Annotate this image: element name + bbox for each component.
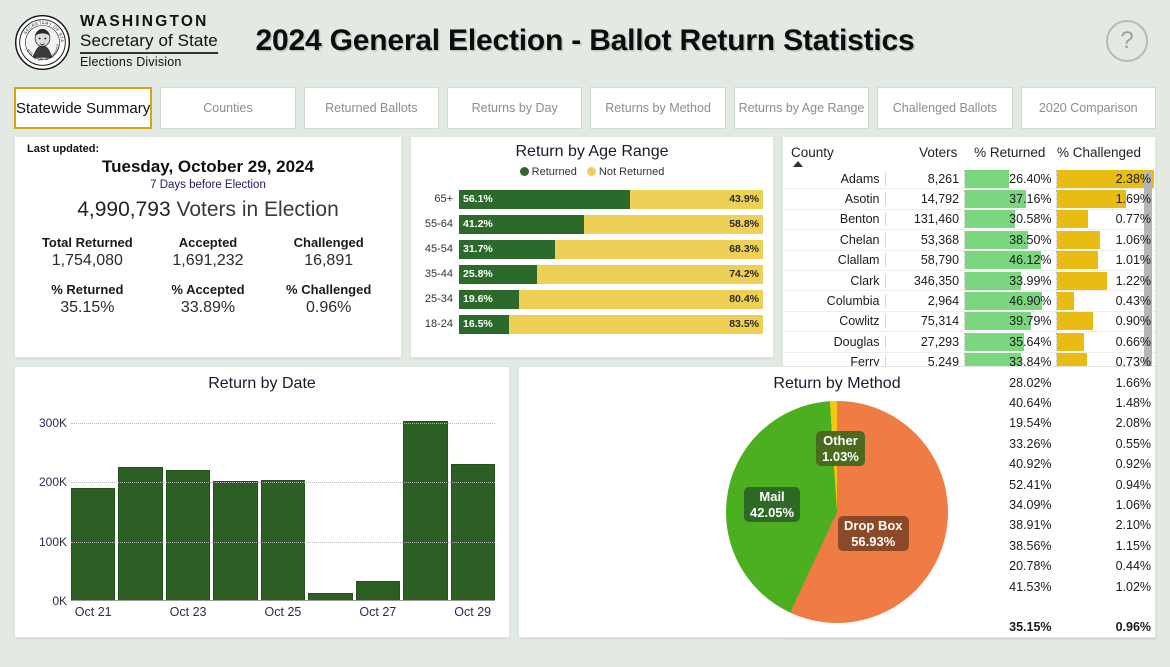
- age-segment-returned: 16.5%: [459, 315, 509, 334]
- return-by-method-card: Return by Method Other 1.03% Mail 42.05%…: [518, 366, 1156, 638]
- date-chart-gridline: [71, 542, 495, 543]
- age-row-bar: 31.7%68.3%: [459, 240, 763, 259]
- data-bar-challenged: [1057, 333, 1084, 351]
- date-chart-bar[interactable]: [118, 467, 162, 601]
- cell-pct-returned-text: 20.78%: [1009, 559, 1051, 573]
- data-bar-challenged: [1057, 251, 1098, 269]
- cell-pct-returned-text: 38.56%: [1009, 539, 1051, 553]
- age-chart-legend: Returned Not Returned: [421, 166, 763, 178]
- voters-count: 4,990,793: [77, 198, 170, 221]
- cell-pct-returned-text: 46.12%: [1009, 253, 1051, 267]
- age-chart-title: Return by Age Range: [421, 143, 763, 161]
- column-header-county[interactable]: County: [791, 145, 883, 160]
- age-row-label: 45-54: [421, 243, 459, 255]
- stat-value-challenged: 16,891: [268, 252, 389, 280]
- cell-pct-challenged: 0.90%: [1056, 312, 1155, 330]
- days-before-election: 7 Days before Election: [27, 179, 389, 191]
- cell-pct-returned-text: 33.84%: [1009, 355, 1051, 369]
- county-table-header: County Voters % Returned % Challenged: [783, 141, 1155, 169]
- column-header-pct-returned[interactable]: % Returned: [957, 145, 1045, 160]
- cell-pct-returned: 38.50%: [964, 231, 1056, 249]
- date-chart-x-tick: [403, 605, 447, 619]
- cell-pct-returned-text: 52.41%: [1009, 478, 1051, 492]
- cell-pct-challenged-text: 0.73%: [1116, 355, 1151, 369]
- table-row[interactable]: Chelan53,36838.50%1.06%: [783, 230, 1155, 250]
- cell-pct-challenged-text: 1.66%: [1116, 376, 1151, 390]
- cell-pct-returned-text: 41.53%: [1009, 580, 1051, 594]
- cell-pct-returned-text: 46.90%: [1009, 294, 1051, 308]
- date-chart-x-tick: [308, 605, 352, 619]
- voters-suffix: Voters in Election: [177, 198, 339, 221]
- stat-label-pct-accepted: % Accepted: [148, 282, 269, 297]
- age-row-bar: 25.8%74.2%: [459, 265, 763, 284]
- age-segment-returned: 41.2%: [459, 215, 584, 234]
- cell-pct-challenged-text: 2.38%: [1116, 172, 1151, 186]
- date-chart-bar[interactable]: [451, 464, 495, 601]
- stat-label-challenged: Challenged: [268, 235, 389, 250]
- cell-pct-challenged-text: 1.06%: [1116, 498, 1151, 512]
- cell-pct-challenged-text: 0.90%: [1116, 314, 1151, 328]
- cell-pct-returned: 26.40%: [964, 170, 1056, 188]
- age-bar-rows: 65+56.1%43.9%55-6441.2%58.8%45-5431.7%68…: [421, 188, 763, 335]
- pie-label-drop-box: Drop Box 56.93%: [838, 516, 909, 551]
- cell-pct-challenged: 2.38%: [1056, 170, 1155, 188]
- age-segment-returned: 19.6%: [459, 290, 519, 309]
- cell-pct-challenged-text: 0.94%: [1116, 478, 1151, 492]
- cell-pct-challenged-text: 1.06%: [1116, 233, 1151, 247]
- column-header-county-label: County: [791, 145, 834, 160]
- last-updated-date: Tuesday, October 29, 2024: [27, 157, 389, 177]
- statewide-summary-card: Last updated: Tuesday, October 29, 2024 …: [14, 136, 402, 358]
- voters-in-election: 4,990,793 Voters in Election: [27, 198, 389, 222]
- cell-pct-returned-text: 38.50%: [1009, 233, 1051, 247]
- cell-pct-returned-text: 35.64%: [1009, 335, 1051, 349]
- date-chart-gridline: [71, 482, 495, 483]
- date-chart-x-tick: Oct 21: [71, 605, 115, 619]
- cell-pct-returned: 33.99%: [964, 272, 1056, 290]
- data-bar-challenged: [1057, 272, 1107, 290]
- date-chart-bar[interactable]: [403, 421, 447, 601]
- help-icon[interactable]: ?: [1106, 20, 1148, 62]
- age-row-label: 65+: [421, 193, 459, 205]
- age-segment-returned: 31.7%: [459, 240, 555, 259]
- age-row-bar: 19.6%80.4%: [459, 290, 763, 309]
- page-header: SECRETARY OF STATE STATE OF WASHINGTON W…: [0, 0, 1170, 84]
- date-chart-bars: [71, 411, 495, 601]
- cell-pct-challenged-text: 0.43%: [1116, 294, 1151, 308]
- cell-pct-challenged: 0.77%: [1056, 210, 1155, 228]
- cell-county: Asotin: [791, 192, 886, 206]
- date-chart-x-tick: Oct 23: [166, 605, 210, 619]
- cell-pct-challenged-text: 0.92%: [1116, 457, 1151, 471]
- age-segment-returned: 25.8%: [459, 265, 537, 284]
- tab-challenged-ballots[interactable]: Challenged Ballots: [877, 87, 1012, 129]
- age-row-55-64: 55-6441.2%58.8%: [421, 213, 763, 235]
- cell-pct-returned: 46.12%: [964, 251, 1056, 269]
- cell-pct-returned: 37.16%: [964, 190, 1056, 208]
- cell-voters: 14,792: [886, 192, 964, 206]
- data-bar-returned: [965, 210, 1015, 228]
- page-title: 2024 General Election - Ballot Return St…: [0, 24, 1170, 58]
- tab-returns-by-day[interactable]: Returns by Day: [447, 87, 582, 129]
- age-segment-not-returned: 83.5%: [509, 315, 763, 334]
- cell-pct-challenged-text: 1.22%: [1116, 274, 1151, 288]
- data-bar-challenged: [1057, 231, 1100, 249]
- cell-county: Cowlitz: [791, 314, 886, 328]
- tab-returns-by-age-range[interactable]: Returns by Age Range: [734, 87, 869, 129]
- age-row-label: 18-24: [421, 318, 459, 330]
- date-chart-x-tick: Oct 25: [261, 605, 305, 619]
- age-row-bar: 16.5%83.5%: [459, 315, 763, 334]
- stat-label-accepted: Accepted: [148, 235, 269, 250]
- age-segment-not-returned: 80.4%: [519, 290, 763, 309]
- pie-label-other: Other 1.03%: [816, 431, 865, 466]
- cell-pct-challenged: 1.01%: [1056, 251, 1155, 269]
- dashboard-body: Last updated: Tuesday, October 29, 2024 …: [0, 136, 1170, 667]
- age-row-bar: 41.2%58.8%: [459, 215, 763, 234]
- legend-label-returned: Returned: [532, 166, 577, 178]
- date-chart-x-tick: [213, 605, 257, 619]
- age-row-65plus: 65+56.1%43.9%: [421, 188, 763, 210]
- age-segment-not-returned: 43.9%: [630, 190, 763, 209]
- method-pie-wrap: Other 1.03% Mail 42.05% Drop Box 56.93%: [726, 401, 948, 623]
- data-bar-returned: [965, 170, 1008, 188]
- cell-pct-challenged: 0.66%: [1056, 333, 1155, 351]
- tab-bar: Statewide Summary Counties Returned Ball…: [0, 84, 1170, 132]
- pie-label-mail: Mail 42.05%: [744, 487, 800, 522]
- date-chart-gridline: [71, 423, 495, 424]
- cell-voters: 53,368: [886, 233, 964, 247]
- age-row-label: 55-64: [421, 218, 459, 230]
- sort-ascending-icon: [793, 161, 803, 167]
- data-bar-challenged: [1057, 312, 1094, 330]
- summary-stats-grid: Total Returned Accepted Challenged 1,754…: [27, 235, 389, 327]
- cell-pct-returned: 35.64%: [964, 333, 1056, 351]
- cell-voters: 8,261: [886, 172, 964, 186]
- age-row-label: 35-44: [421, 268, 459, 280]
- date-chart-x-tick: Oct 29: [451, 605, 495, 619]
- cell-county: Clallam: [791, 253, 886, 267]
- cell-pct-returned-text: 40.92%: [1009, 457, 1051, 471]
- stat-value-pct-returned: 35.15%: [27, 299, 148, 327]
- cell-pct-returned-text: 33.99%: [1009, 274, 1051, 288]
- cell-pct-challenged-text: 1.48%: [1116, 396, 1151, 410]
- age-segment-returned: 56.1%: [459, 190, 630, 209]
- date-chart-y-tick: 100K: [25, 535, 67, 549]
- dashboard-bottom-row: Return by Date 0K100K200K300K Oct 21Oct …: [14, 366, 1156, 638]
- date-chart-plot: 0K100K200K300K: [25, 411, 499, 601]
- stat-value-total-returned: 1,754,080: [27, 252, 148, 280]
- cell-pct-returned-text: 39.79%: [1009, 314, 1051, 328]
- cell-pct-challenged-text: 0.77%: [1116, 212, 1151, 226]
- age-row-25-34: 25-3419.6%80.4%: [421, 288, 763, 310]
- cell-pct-challenged-text: 1.15%: [1116, 539, 1151, 553]
- table-row[interactable]: Cowlitz75,31439.79%0.90%: [783, 312, 1155, 332]
- table-row[interactable]: Clark346,35033.99%1.22%: [783, 271, 1155, 291]
- tab-2020-comparison[interactable]: 2020 Comparison: [1021, 87, 1156, 129]
- cell-voters: 27,293: [886, 335, 964, 349]
- column-header-voters[interactable]: Voters: [883, 145, 958, 160]
- cell-county: Chelan: [791, 233, 886, 247]
- table-row[interactable]: Benton131,46030.58%0.77%: [783, 210, 1155, 230]
- cell-pct-returned-text: 28.02%: [1009, 376, 1051, 390]
- cell-pct-returned-text: 30.58%: [1009, 212, 1051, 226]
- cell-pct-returned-text: 26.40%: [1009, 172, 1051, 186]
- cell-pct-challenged-text: 2.10%: [1116, 518, 1151, 532]
- stat-label-total-returned: Total Returned: [27, 235, 148, 250]
- age-row-45-54: 45-5431.7%68.3%: [421, 238, 763, 260]
- date-chart-y-tick: 200K: [25, 475, 67, 489]
- cell-county: Clark: [791, 274, 886, 288]
- legend-dot-returned: [520, 167, 529, 176]
- stat-value-pct-challenged: 0.96%: [268, 299, 389, 327]
- return-by-age-range-card: Return by Age Range Returned Not Returne…: [410, 136, 774, 358]
- stat-value-accepted: 1,691,232: [148, 252, 269, 280]
- table-row[interactable]: Columbia2,96446.90%0.43%: [783, 291, 1155, 311]
- age-row-bar: 56.1%43.9%: [459, 190, 763, 209]
- date-chart-bar[interactable]: [356, 581, 400, 601]
- return-by-date-card: Return by Date 0K100K200K300K Oct 21Oct …: [14, 366, 510, 638]
- cell-pct-returned: 46.90%: [964, 292, 1056, 310]
- cell-pct-returned-text: 37.16%: [1009, 192, 1051, 206]
- table-row[interactable]: Adams8,26126.40%2.38%: [783, 169, 1155, 189]
- cell-pct-returned: 30.58%: [964, 210, 1056, 228]
- table-row[interactable]: Douglas27,29335.64%0.66%: [783, 332, 1155, 352]
- date-chart-y-tick: 300K: [25, 416, 67, 430]
- legend-item-returned: Returned: [520, 166, 577, 178]
- cell-pct-challenged: 0.43%: [1056, 292, 1155, 310]
- cell-pct-challenged-text: 0.44%: [1116, 559, 1151, 573]
- date-chart-x-labels: Oct 21Oct 23Oct 25Oct 27Oct 29: [25, 605, 499, 619]
- age-segment-not-returned: 58.8%: [584, 215, 763, 234]
- tab-returned-ballots[interactable]: Returned Ballots: [304, 87, 439, 129]
- cell-pct-challenged-text: 1.69%: [1116, 192, 1151, 206]
- age-row-18-24: 18-2416.5%83.5%: [421, 313, 763, 335]
- date-chart-bar[interactable]: [166, 470, 210, 601]
- age-segment-not-returned: 68.3%: [555, 240, 763, 259]
- age-row-35-44: 35-4425.8%74.2%: [421, 263, 763, 285]
- cell-pct-challenged: 1.69%: [1056, 190, 1155, 208]
- cell-pct-returned-text: 19.54%: [1009, 416, 1051, 430]
- data-bar-challenged: [1057, 292, 1075, 310]
- date-chart-x-tick: Oct 27: [356, 605, 400, 619]
- tab-counties[interactable]: Counties: [160, 87, 295, 129]
- date-chart-title: Return by Date: [25, 375, 499, 393]
- age-row-label: 25-34: [421, 293, 459, 305]
- table-row[interactable]: Asotin14,79237.16%1.69%: [783, 189, 1155, 209]
- cell-county: Adams: [791, 172, 886, 186]
- data-bar-challenged: [1057, 210, 1089, 228]
- table-row[interactable]: Clallam58,79046.12%1.01%: [783, 251, 1155, 271]
- stat-label-pct-returned: % Returned: [27, 282, 148, 297]
- legend-dot-not-returned: [587, 167, 596, 176]
- cell-pct-challenged: 1.06%: [1056, 231, 1155, 249]
- cell-pct-returned-text: 38.91%: [1009, 518, 1051, 532]
- cell-county: Douglas: [791, 335, 886, 349]
- column-header-pct-challenged[interactable]: % Challenged: [1045, 145, 1141, 160]
- cell-pct-returned-text: 33.26%: [1009, 437, 1051, 451]
- cell-county: Columbia: [791, 294, 886, 308]
- cell-pct-returned-text: 40.64%: [1009, 396, 1051, 410]
- legend-item-not-returned: Not Returned: [587, 166, 664, 178]
- brand-elections-division: Elections Division: [80, 56, 218, 69]
- date-chart-x-tick: [118, 605, 162, 619]
- last-updated-label: Last updated:: [27, 143, 389, 155]
- tab-statewide-summary[interactable]: Statewide Summary: [14, 87, 152, 129]
- cell-pct-returned-text: 34.09%: [1009, 498, 1051, 512]
- date-chart-bar[interactable]: [71, 488, 115, 601]
- cell-pct-challenged-text: 0.66%: [1116, 335, 1151, 349]
- cell-county: Benton: [791, 212, 886, 226]
- legend-label-not-returned: Not Returned: [599, 166, 664, 178]
- cell-voters: 75,314: [886, 314, 964, 328]
- cell-pct-challenged-text: 2.08%: [1116, 416, 1151, 430]
- stat-label-pct-challenged: % Challenged: [268, 282, 389, 297]
- cell-pct-challenged-text: 1.02%: [1116, 580, 1151, 594]
- date-chart-axis: [71, 600, 495, 601]
- cell-voters: 58,790: [886, 253, 964, 267]
- cell-pct-challenged-text: 0.55%: [1116, 437, 1151, 451]
- stat-value-pct-accepted: 33.89%: [148, 299, 269, 327]
- cell-voters: 2,964: [886, 294, 964, 308]
- cell-pct-challenged: 1.22%: [1056, 272, 1155, 290]
- dashboard-top-row: Last updated: Tuesday, October 29, 2024 …: [14, 136, 1156, 358]
- method-chart-title: Return by Method: [529, 375, 1145, 393]
- cell-voters: 131,460: [886, 212, 964, 226]
- cell-pct-challenged-text: 1.01%: [1116, 253, 1151, 267]
- cell-voters: 346,350: [886, 274, 964, 288]
- tab-returns-by-method[interactable]: Returns by Method: [590, 87, 725, 129]
- age-segment-not-returned: 74.2%: [537, 265, 763, 284]
- cell-pct-returned: 39.79%: [964, 312, 1056, 330]
